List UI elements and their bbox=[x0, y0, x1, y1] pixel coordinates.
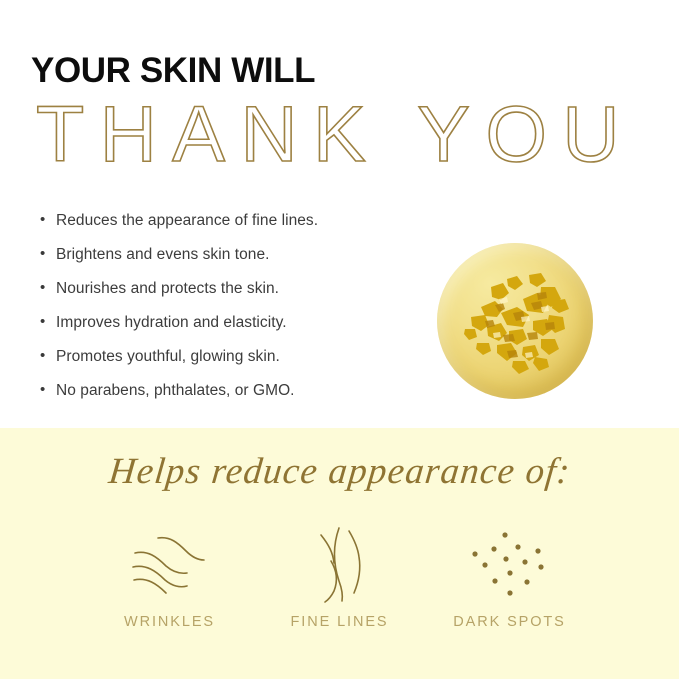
feature-label: DARK SPOTS bbox=[453, 614, 565, 630]
bullet-icon: • bbox=[40, 278, 56, 298]
benefits-list: • Reduces the appearance of fine lines. … bbox=[40, 211, 420, 415]
list-item: • No parabens, phthalates, or GMO. bbox=[40, 381, 420, 415]
list-item: • Reduces the appearance of fine lines. bbox=[40, 211, 420, 245]
bullet-icon: • bbox=[40, 312, 56, 332]
feature-dark-spots: DARK SPOTS bbox=[425, 524, 595, 630]
list-item: • Brightens and evens skin tone. bbox=[40, 245, 420, 279]
list-item: • Improves hydration and elasticity. bbox=[40, 313, 420, 347]
benefit-text: Nourishes and protects the skin. bbox=[56, 279, 279, 299]
headline-secondary: THANK YOU bbox=[36, 101, 656, 173]
curved-vertical-lines-icon bbox=[294, 524, 386, 604]
benefit-text: No parabens, phthalates, or GMO. bbox=[56, 381, 295, 401]
bullet-icon: • bbox=[40, 210, 56, 230]
list-item: • Promotes youthful, glowing skin. bbox=[40, 347, 420, 381]
bottom-cream-panel: Helps reduce appearance of: WRINKLES bbox=[0, 428, 679, 679]
feature-label: WRINKLES bbox=[124, 614, 215, 630]
wavy-horizontal-lines-icon bbox=[124, 524, 216, 604]
top-section: YOUR SKIN WILL THANK YOU • Reduces the a… bbox=[0, 0, 679, 428]
feature-wrinkles: WRINKLES bbox=[85, 524, 255, 630]
bullet-icon: • bbox=[40, 244, 56, 264]
gold-flakes-overlay bbox=[437, 243, 593, 399]
benefit-text: Promotes youthful, glowing skin. bbox=[56, 347, 280, 367]
list-item: • Nourishes and protects the skin. bbox=[40, 279, 420, 313]
features-row: WRINKLES FINE LINES bbox=[0, 524, 679, 630]
bullet-icon: • bbox=[40, 380, 56, 400]
feature-fine-lines: FINE LINES bbox=[255, 524, 425, 630]
infographic-page: YOUR SKIN WILL THANK YOU • Reduces the a… bbox=[0, 0, 679, 679]
script-heading: Helps reduce appearance of: bbox=[0, 442, 679, 506]
headline-primary: YOUR SKIN WILL bbox=[31, 52, 315, 90]
scattered-dots-icon bbox=[464, 524, 556, 604]
benefit-text: Reduces the appearance of fine lines. bbox=[56, 211, 318, 231]
gold-leaf-circle-image bbox=[437, 243, 593, 399]
benefit-text: Brightens and evens skin tone. bbox=[56, 245, 269, 265]
bullet-icon: • bbox=[40, 346, 56, 366]
feature-label: FINE LINES bbox=[291, 614, 389, 630]
headline-secondary-text: THANK YOU bbox=[36, 89, 635, 178]
benefit-text: Improves hydration and elasticity. bbox=[56, 313, 287, 333]
